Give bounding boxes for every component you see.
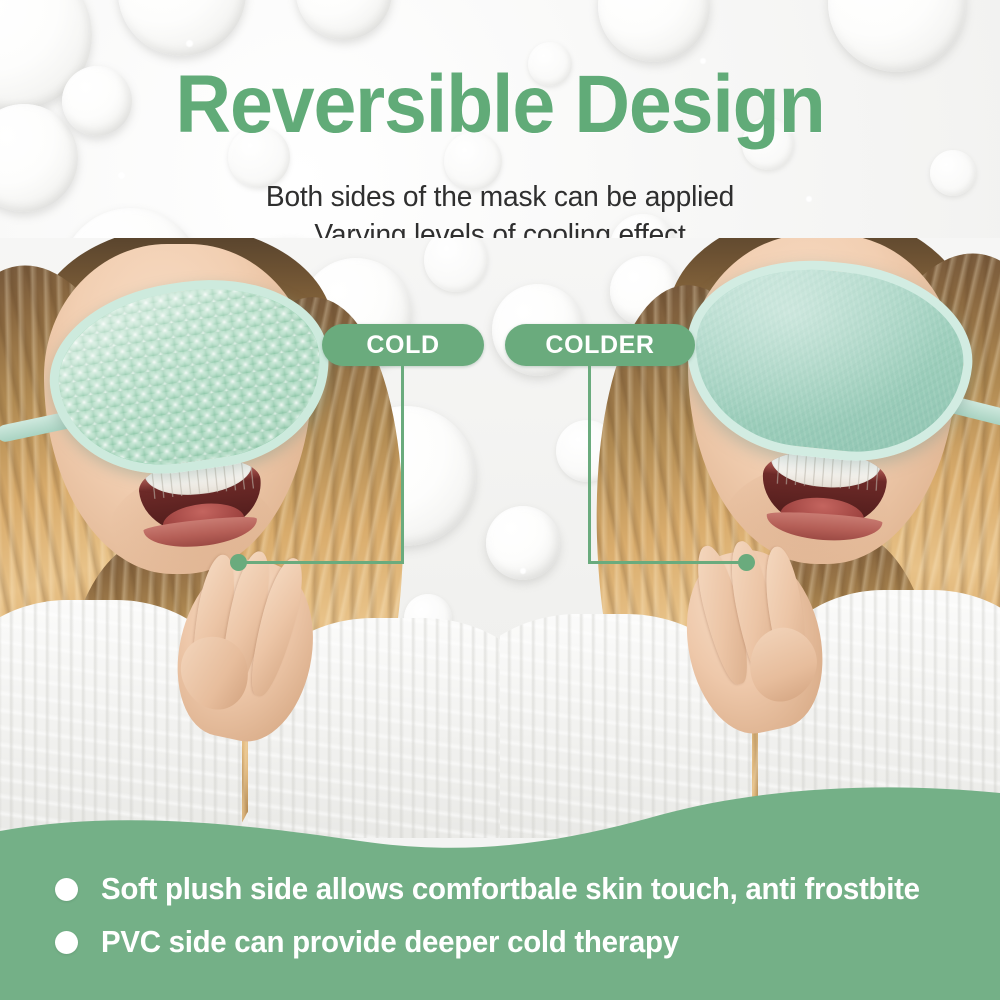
bullet-text: Soft plush side allows comfortbale skin … [101, 871, 920, 907]
infographic-page: Reversible Design Both sides of the mask… [0, 0, 1000, 1000]
feature-bullet-list: Soft plush side allows comfortbale skin … [55, 871, 955, 960]
page-title: Reversible Design [30, 62, 970, 148]
footer-content: Soft plush side allows comfortbale skin … [0, 815, 1000, 1000]
bullet-dot-icon [55, 878, 78, 901]
product-photo-band [0, 238, 1000, 838]
callout-label-cold: COLD [366, 331, 439, 360]
connector-dot-colder [738, 554, 755, 571]
connector-dot-cold [230, 554, 247, 571]
callout-label-colder: COLDER [545, 331, 654, 360]
connector-line-cold-horizontal [244, 561, 404, 564]
bullet-dot-icon [55, 931, 78, 954]
subtitle-line-1: Both sides of the mask can be applied [15, 178, 985, 216]
callout-pill-colder[interactable]: COLDER [505, 324, 695, 366]
bullet-text: PVC side can provide deeper cold therapy [101, 924, 679, 960]
callout-pill-cold[interactable]: COLD [322, 324, 484, 366]
list-item: PVC side can provide deeper cold therapy [55, 924, 955, 960]
connector-line-cold-vertical [401, 366, 404, 564]
list-item: Soft plush side allows comfortbale skin … [55, 871, 955, 907]
connector-line-colder-vertical [588, 366, 591, 564]
connector-line-colder-horizontal [588, 561, 746, 564]
